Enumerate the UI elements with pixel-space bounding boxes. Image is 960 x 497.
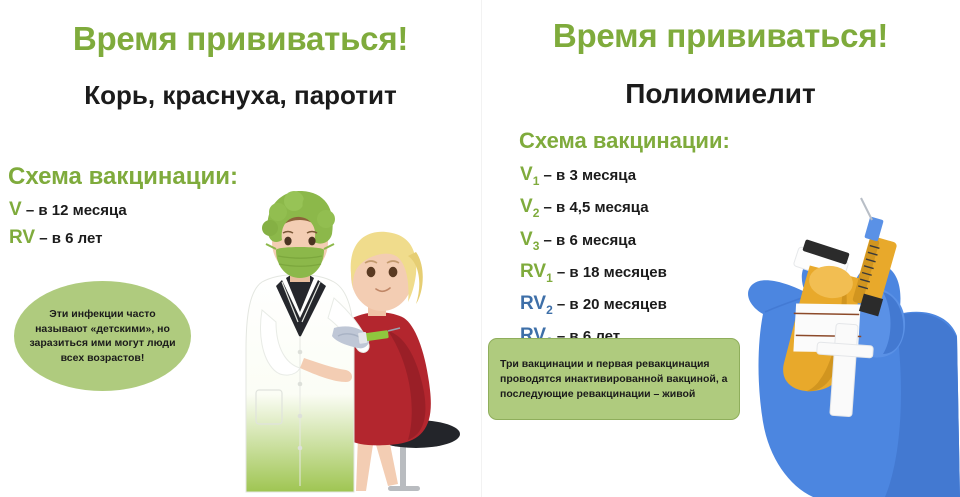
dose-description: – в 12 месяца: [26, 202, 127, 219]
dose-code: V2: [520, 196, 539, 217]
dose-description: – в 6 месяца: [544, 232, 637, 249]
left-callout-text: Эти инфекции часто называют «детскими», …: [14, 307, 191, 365]
panel-divider: [481, 0, 482, 497]
dose-description: – в 3 месяца: [544, 167, 637, 184]
dose-code: V3: [520, 229, 539, 250]
right-callout-box: Три вакцинации и первая ревакцинация про…: [488, 338, 740, 420]
left-schedule-list: V – в 12 месяца RV – в 6 лет: [9, 196, 127, 252]
dose-code: RV2: [520, 293, 553, 314]
dose-code: V: [9, 199, 22, 220]
schedule-item: RV2 – в 20 месяцев: [520, 291, 667, 323]
left-callout-oval: Эти инфекции часто называют «детскими», …: [14, 281, 191, 391]
right-schedule-list: V1 – в 3 месяца V2 – в 4,5 месяца V3 – в…: [520, 162, 667, 356]
right-scheme-title: Схема вакцинации:: [519, 128, 730, 154]
right-headline: Время прививаться!: [481, 17, 960, 55]
right-subhead: Полиомиелит: [481, 78, 960, 110]
dose-code: RV1: [520, 261, 553, 282]
schedule-item: RV – в 6 лет: [9, 224, 127, 252]
dose-description: – в 4,5 месяца: [544, 199, 649, 216]
schedule-item: RV1 – в 18 месяцев: [520, 259, 667, 291]
schedule-item: V2 – в 4,5 месяца: [520, 194, 667, 226]
schedule-item: V3 – в 6 месяца: [520, 227, 667, 259]
gloved-hand-vial-syringe-illustration: [735, 196, 960, 497]
right-callout-text: Три вакцинации и первая ревакцинация про…: [489, 357, 739, 402]
left-scheme-title: Схема вакцинации:: [8, 163, 238, 191]
schedule-item: V1 – в 3 месяца: [520, 162, 667, 194]
dose-description: – в 6 лет: [39, 230, 102, 247]
left-headline: Время прививаться!: [0, 20, 481, 58]
schedule-item: V – в 12 месяца: [9, 196, 127, 224]
dose-description: – в 20 месяцев: [557, 296, 667, 313]
doctor-vaccinating-woman-illustration: [238, 186, 490, 497]
panel-measles-rubella-mumps: Время прививаться! Корь, краснуха, парот…: [0, 0, 481, 497]
left-subhead: Корь, краснуха, паротит: [0, 80, 481, 111]
dose-description: – в 18 месяцев: [557, 264, 667, 281]
vaccination-infographic: Время прививаться! Корь, краснуха, парот…: [0, 0, 960, 497]
dose-code: RV: [9, 227, 35, 248]
dose-code: V1: [520, 164, 539, 185]
